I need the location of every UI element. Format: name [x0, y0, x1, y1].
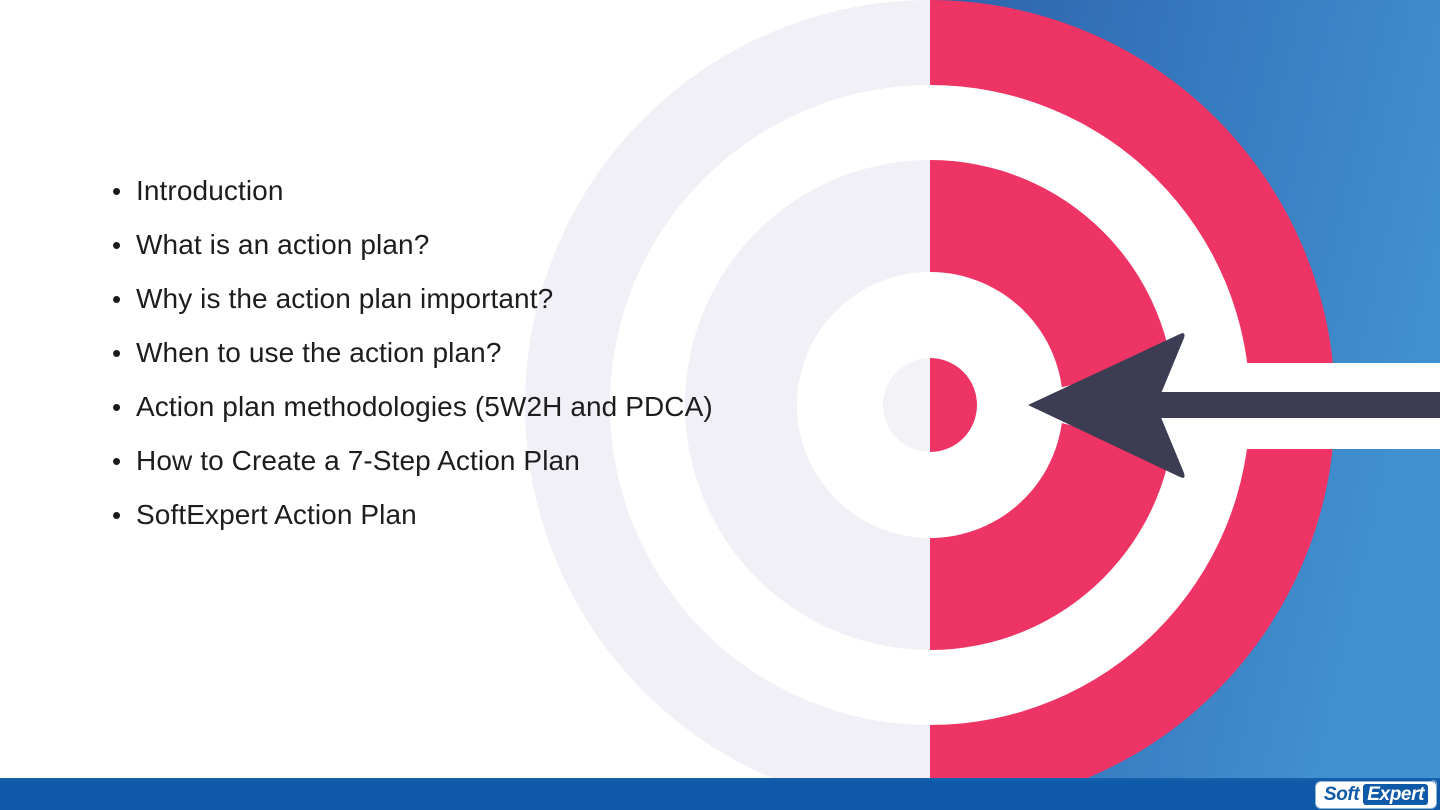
footer-bar-sheen — [0, 778, 1440, 782]
logo-word-expert: Expert — [1363, 784, 1428, 805]
bullet-icon: • — [112, 218, 136, 272]
list-item-label: Why is the action plan important? — [136, 272, 553, 326]
list-item-label: When to use the action plan? — [136, 326, 502, 380]
list-item[interactable]: • SoftExpert Action Plan — [112, 488, 812, 542]
agenda-bullet-list: • Introduction • What is an action plan?… — [112, 164, 812, 542]
softexpert-logo[interactable]: Soft Expert ® — [1316, 782, 1436, 808]
bullet-icon: • — [112, 434, 136, 488]
trademark-icon: ® — [1430, 780, 1437, 789]
bullet-icon: • — [112, 164, 136, 218]
footer-bar — [0, 778, 1440, 810]
arrow-shaft — [1150, 392, 1440, 418]
slide-canvas: • Introduction • What is an action plan?… — [0, 0, 1440, 810]
list-item[interactable]: • Introduction — [112, 164, 812, 218]
bullet-icon: • — [112, 488, 136, 542]
list-item-label: What is an action plan? — [136, 218, 429, 272]
list-item[interactable]: • What is an action plan? — [112, 218, 812, 272]
list-item-label: Introduction — [136, 164, 284, 218]
bullet-icon: • — [112, 380, 136, 434]
list-item-label: Action plan methodologies (5W2H and PDCA… — [136, 380, 713, 434]
list-item[interactable]: • How to Create a 7-Step Action Plan — [112, 434, 812, 488]
list-item[interactable]: • When to use the action plan? — [112, 326, 812, 380]
list-item[interactable]: • Why is the action plan important? — [112, 272, 812, 326]
list-item-label: How to Create a 7-Step Action Plan — [136, 434, 580, 488]
bullet-icon: • — [112, 326, 136, 380]
list-item[interactable]: • Action plan methodologies (5W2H and PD… — [112, 380, 812, 434]
logo-plate: Soft Expert — [1316, 782, 1436, 808]
list-item-label: SoftExpert Action Plan — [136, 488, 417, 542]
bullet-icon: • — [112, 272, 136, 326]
logo-word-soft: Soft — [1324, 784, 1359, 805]
